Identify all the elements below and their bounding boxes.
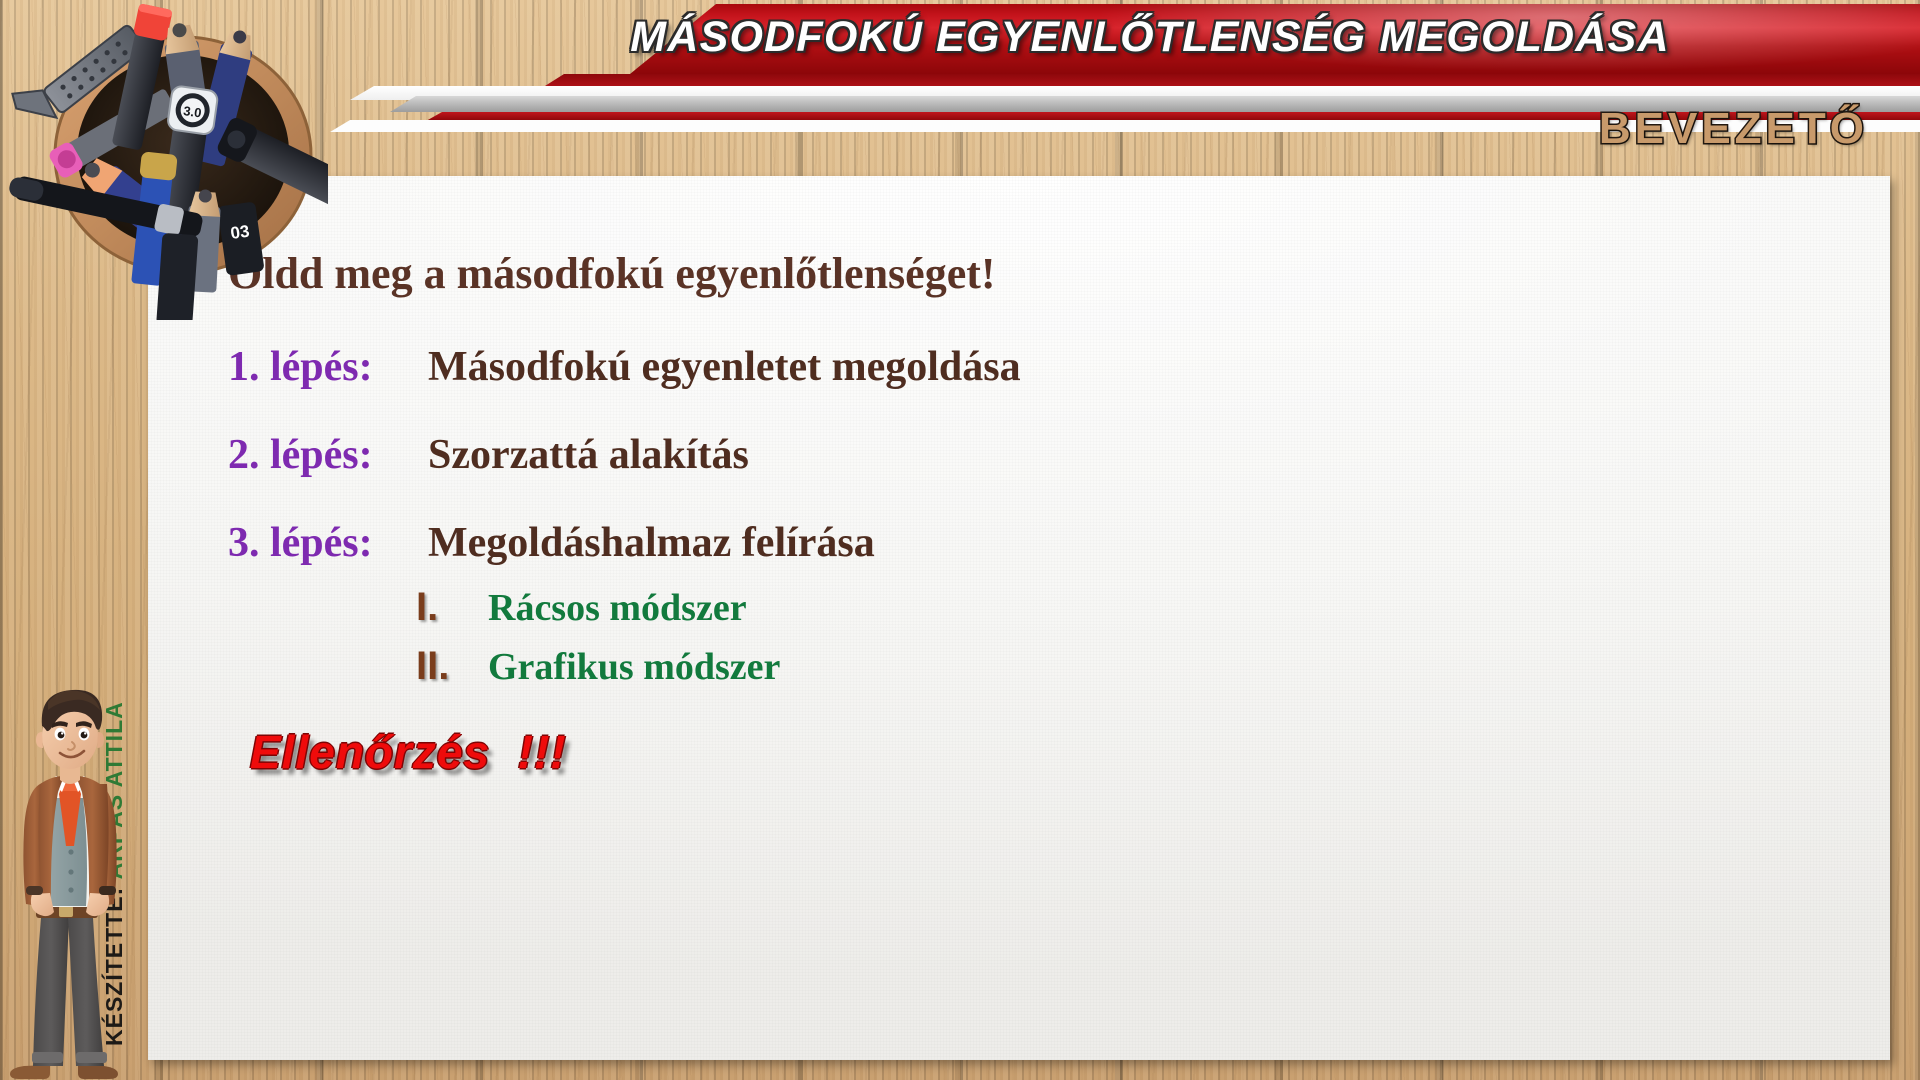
subitem-text-1: Rácsos módszer — [488, 586, 747, 630]
step-text-1: Másodfokú egyenletet megoldása — [428, 343, 1021, 391]
step-row-2: 2. lépés: Szorzattá alakítás — [228, 431, 1890, 479]
subitem-row-1: I. Rácsos módszer — [416, 585, 1890, 630]
section-subtitle: BEVEZETŐ — [1599, 104, 1868, 154]
step-label-1: 1. lépés: — [228, 343, 428, 391]
pencil-label-03: 03 — [229, 222, 250, 243]
pencil-label-3-0: 3.0 — [182, 103, 202, 120]
subitem-marker-2: II. — [416, 644, 488, 689]
subitem-marker-1: I. — [416, 585, 488, 630]
pencil-cup-icon: 3.0 03 — [8, 0, 328, 320]
step-text-2: Szorzattá alakítás — [428, 431, 749, 479]
step-row-1: 1. lépés: Másodfokú egyenletet megoldása — [228, 343, 1890, 391]
page-title: MÁSODFOKÚ EGYENLŐTLENSÉG MEGOLDÁSA — [420, 13, 1880, 62]
task-heading: Oldd meg a másodfokú egyenlőtlenséget! — [228, 248, 1890, 299]
step-text-3: Megoldáshalmaz felírása — [428, 519, 875, 567]
subitem-row-2: II. Grafikus módszer — [416, 644, 1890, 689]
content-body: Oldd meg a másodfokú egyenlőtlenséget! 1… — [148, 176, 1890, 779]
step-label-2: 2. lépés: — [228, 431, 428, 479]
step-row-3: 3. lépés: Megoldáshalmaz felírása — [228, 519, 1890, 567]
content-panel: Oldd meg a másodfokú egyenlőtlenséget! 1… — [148, 176, 1890, 1060]
subitem-text-2: Grafikus módszer — [488, 645, 780, 689]
slide-root: MÁSODFOKÚ EGYENLŐTLENSÉG MEGOLDÁSA BEVEZ… — [0, 0, 1920, 1080]
step-label-3: 3. lépés: — [228, 519, 428, 567]
teacher-character-illustration — [0, 680, 134, 1080]
verification-note: Ellenőrzés !!! — [250, 725, 1890, 779]
